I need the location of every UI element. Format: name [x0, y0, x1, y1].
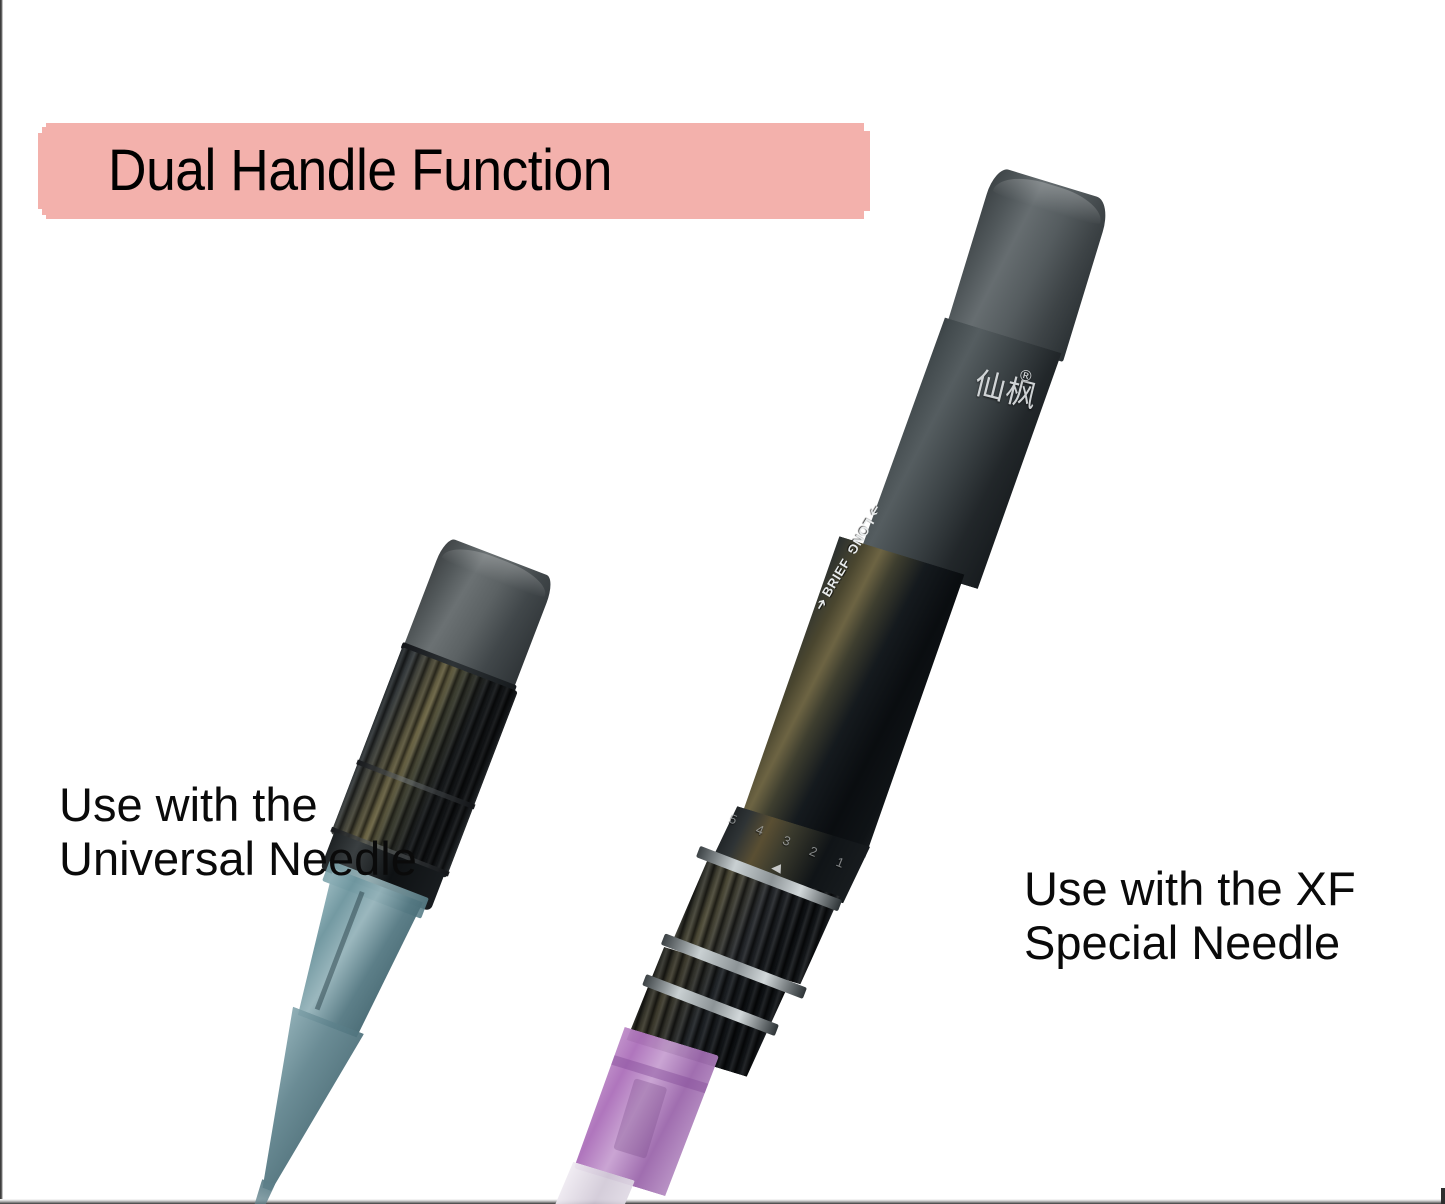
infographic-canvas: Dual Handle Function 仙枫 ® ➔ BRIEF ➔: [0, 0, 1445, 1204]
page-edge-left: [0, 0, 3, 1204]
pen-upper-barrel: [854, 312, 1061, 592]
title-banner: Dual Handle Function: [46, 123, 864, 219]
caption-universal-needle: Use with the Universal Needle: [59, 778, 417, 885]
page-title: Dual Handle Function: [108, 142, 656, 200]
universal-needle-taper: [229, 1007, 364, 1202]
page-title-text: Dual Handle Function: [108, 142, 612, 200]
pen-mid-barrel: [737, 532, 970, 863]
caption-xf-needle: Use with the XF Special Needle: [1024, 862, 1356, 969]
page-edge-right: [1441, 1188, 1445, 1204]
page-edge-bottom: [0, 1199, 1445, 1204]
